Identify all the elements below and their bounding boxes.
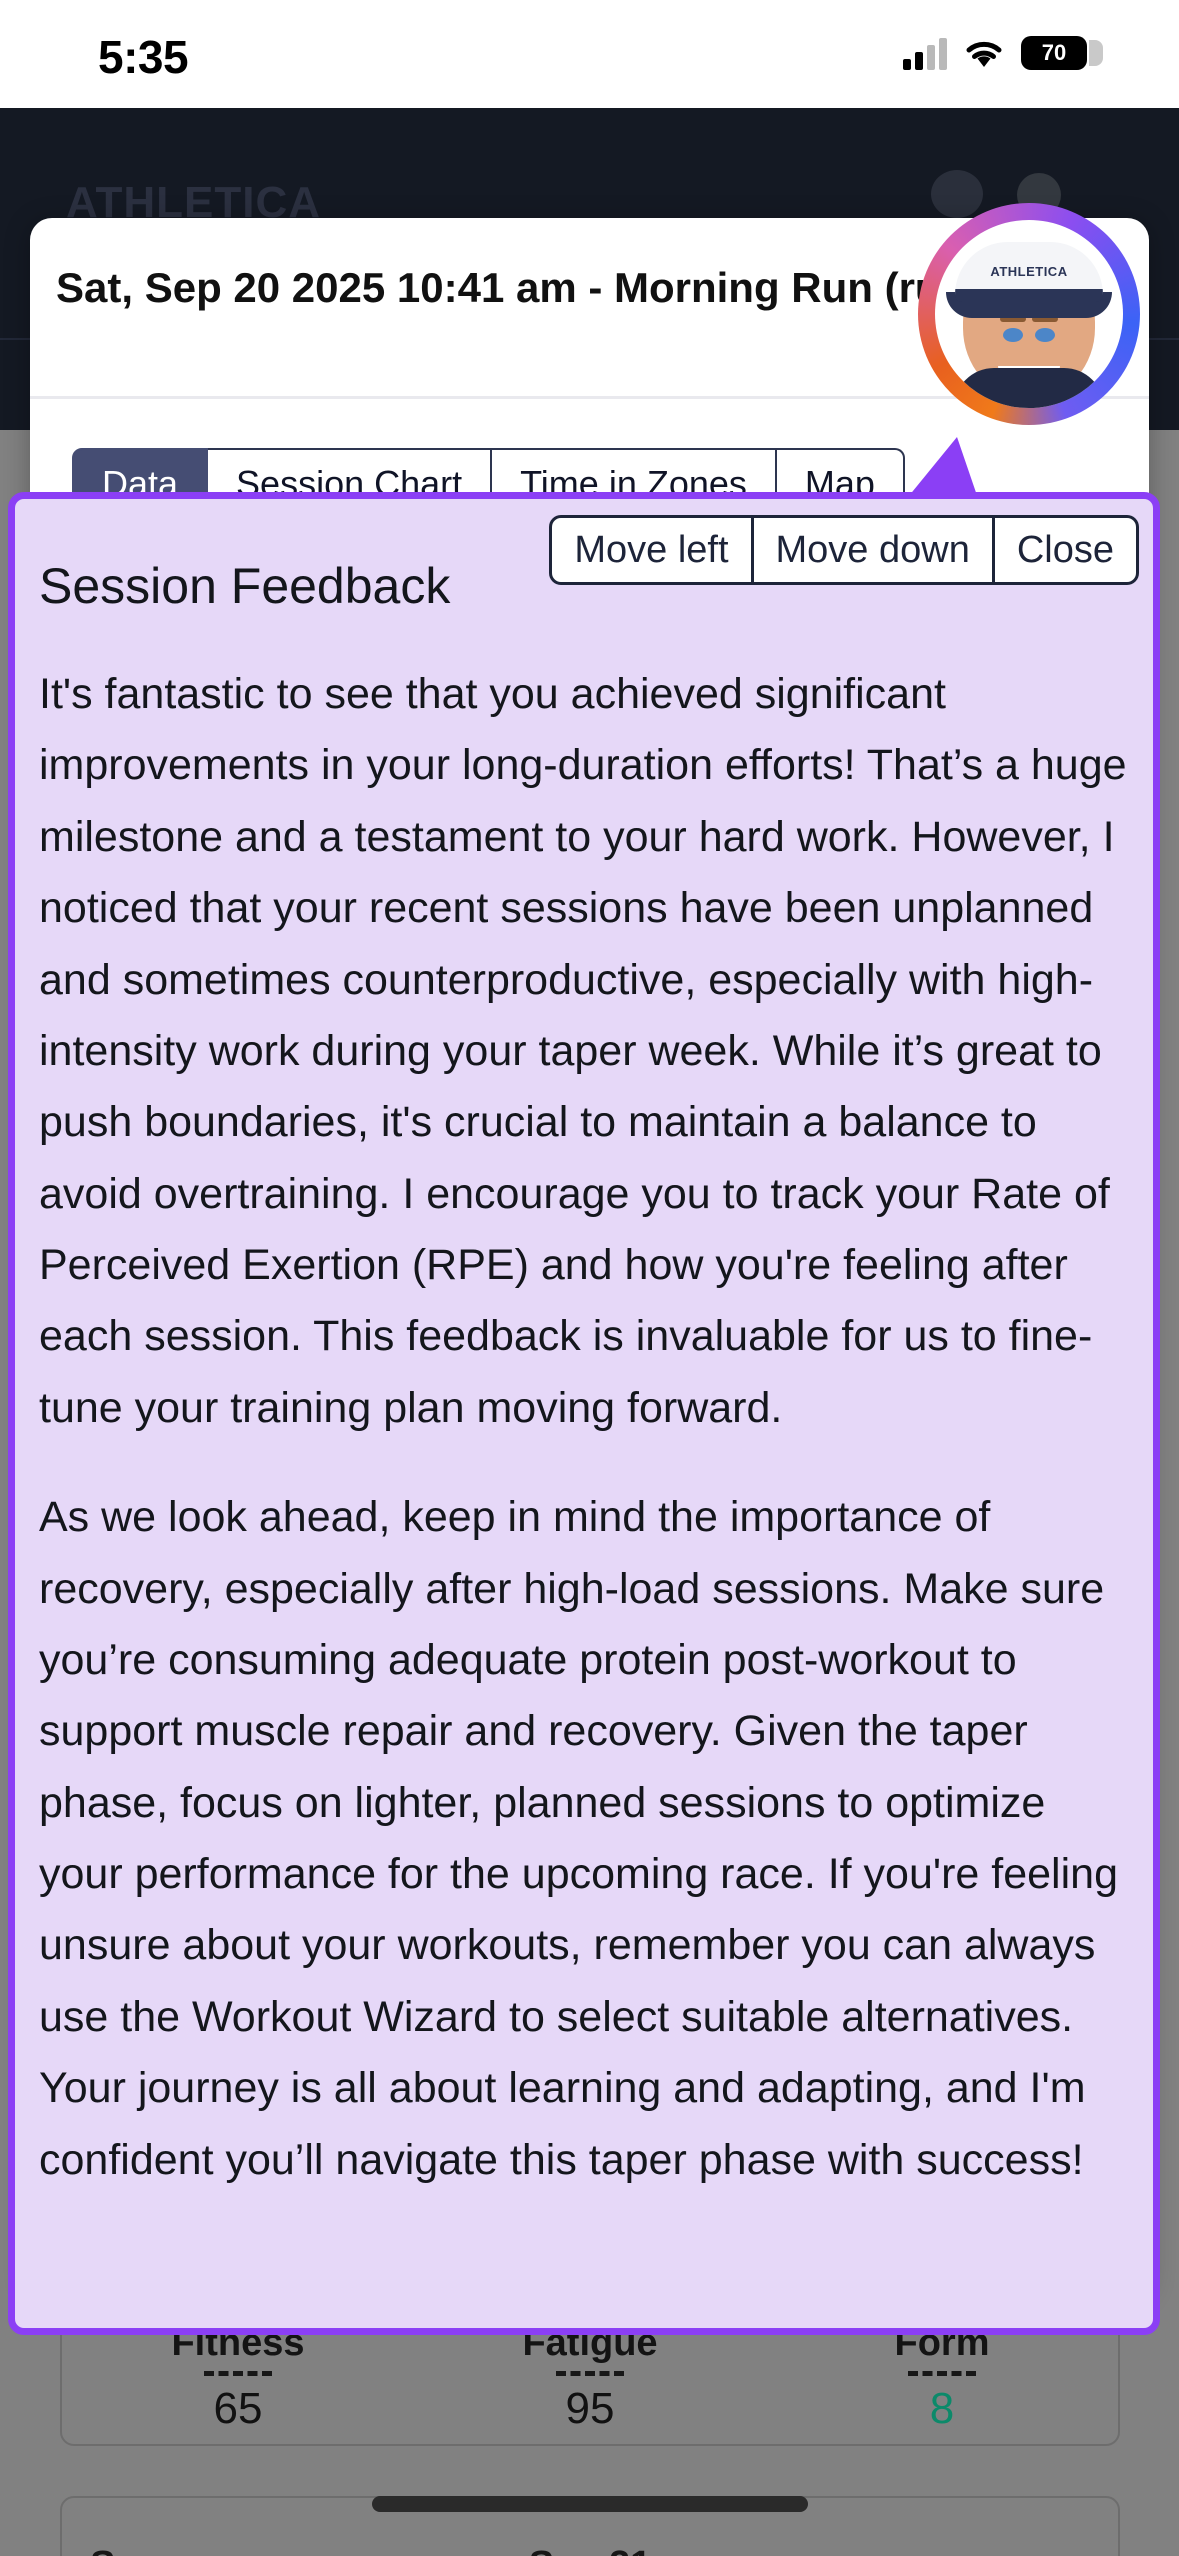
stat-form-dash-icon — [908, 2371, 976, 2376]
next-day-date: Sep 21 — [529, 2544, 652, 2556]
session-feedback-panel: Move left Move down Close Session Feedba… — [8, 492, 1160, 2335]
feedback-paragraph-1: It's fantastic to see that you achieved … — [39, 659, 1129, 1444]
training-stats-card: Fitness 65 Fatigue 95 Form 8 — [60, 2318, 1120, 2446]
stat-fatigue-dash-icon — [556, 2371, 624, 2376]
feedback-body: It's fantastic to see that you achieved … — [39, 659, 1129, 2196]
status-bar-time: 5:35 — [98, 30, 188, 84]
move-left-button[interactable]: Move left — [549, 515, 753, 585]
avatar-shirt — [954, 368, 1104, 408]
avatar-cap-text: ATHLETICA — [955, 264, 1103, 279]
wifi-icon — [963, 37, 1005, 69]
avatar-cap: ATHLETICA — [955, 242, 1103, 302]
status-bar: 5:35 70 — [0, 0, 1179, 108]
menu-icon[interactable] — [931, 170, 983, 218]
stat-fatigue: Fatigue 95 — [414, 2320, 766, 2444]
stat-fitness: Fitness 65 — [62, 2320, 414, 2444]
next-day-label: Sun — [90, 2544, 162, 2556]
battery-icon: 70 — [1021, 36, 1087, 70]
feedback-paragraph-2: As we look ahead, keep in mind the impor… — [39, 1482, 1129, 2196]
stat-fitness-value: 65 — [62, 2384, 414, 2434]
avatar-eye-left — [1003, 328, 1023, 342]
stat-form: Form 8 — [766, 2320, 1118, 2444]
stat-fatigue-value: 95 — [414, 2384, 766, 2434]
feedback-toolbar: Move left Move down Close — [549, 515, 1139, 585]
page-title: Sat, Sep 20 2025 10:41 am - Morning Run … — [56, 264, 1056, 312]
stat-form-value: 8 — [766, 2384, 1118, 2434]
avatar-image: ATHLETICA — [935, 220, 1123, 408]
move-down-button[interactable]: Move down — [754, 515, 995, 585]
home-indicator[interactable] — [372, 2496, 808, 2512]
avatar-eye-right — [1035, 328, 1055, 342]
phone-screen: 5:35 70 ATHLETICA Sat, Sep 20 2025 — [0, 0, 1179, 2556]
avatar[interactable]: ATHLETICA — [918, 203, 1140, 425]
stat-fitness-dash-icon — [204, 2371, 272, 2376]
feedback-close-button[interactable]: Close — [995, 515, 1139, 585]
status-bar-indicators: 70 — [903, 36, 1087, 70]
battery-level: 70 — [1042, 40, 1066, 66]
feedback-heading: Session Feedback — [39, 557, 450, 615]
cellular-signal-icon — [903, 36, 947, 70]
